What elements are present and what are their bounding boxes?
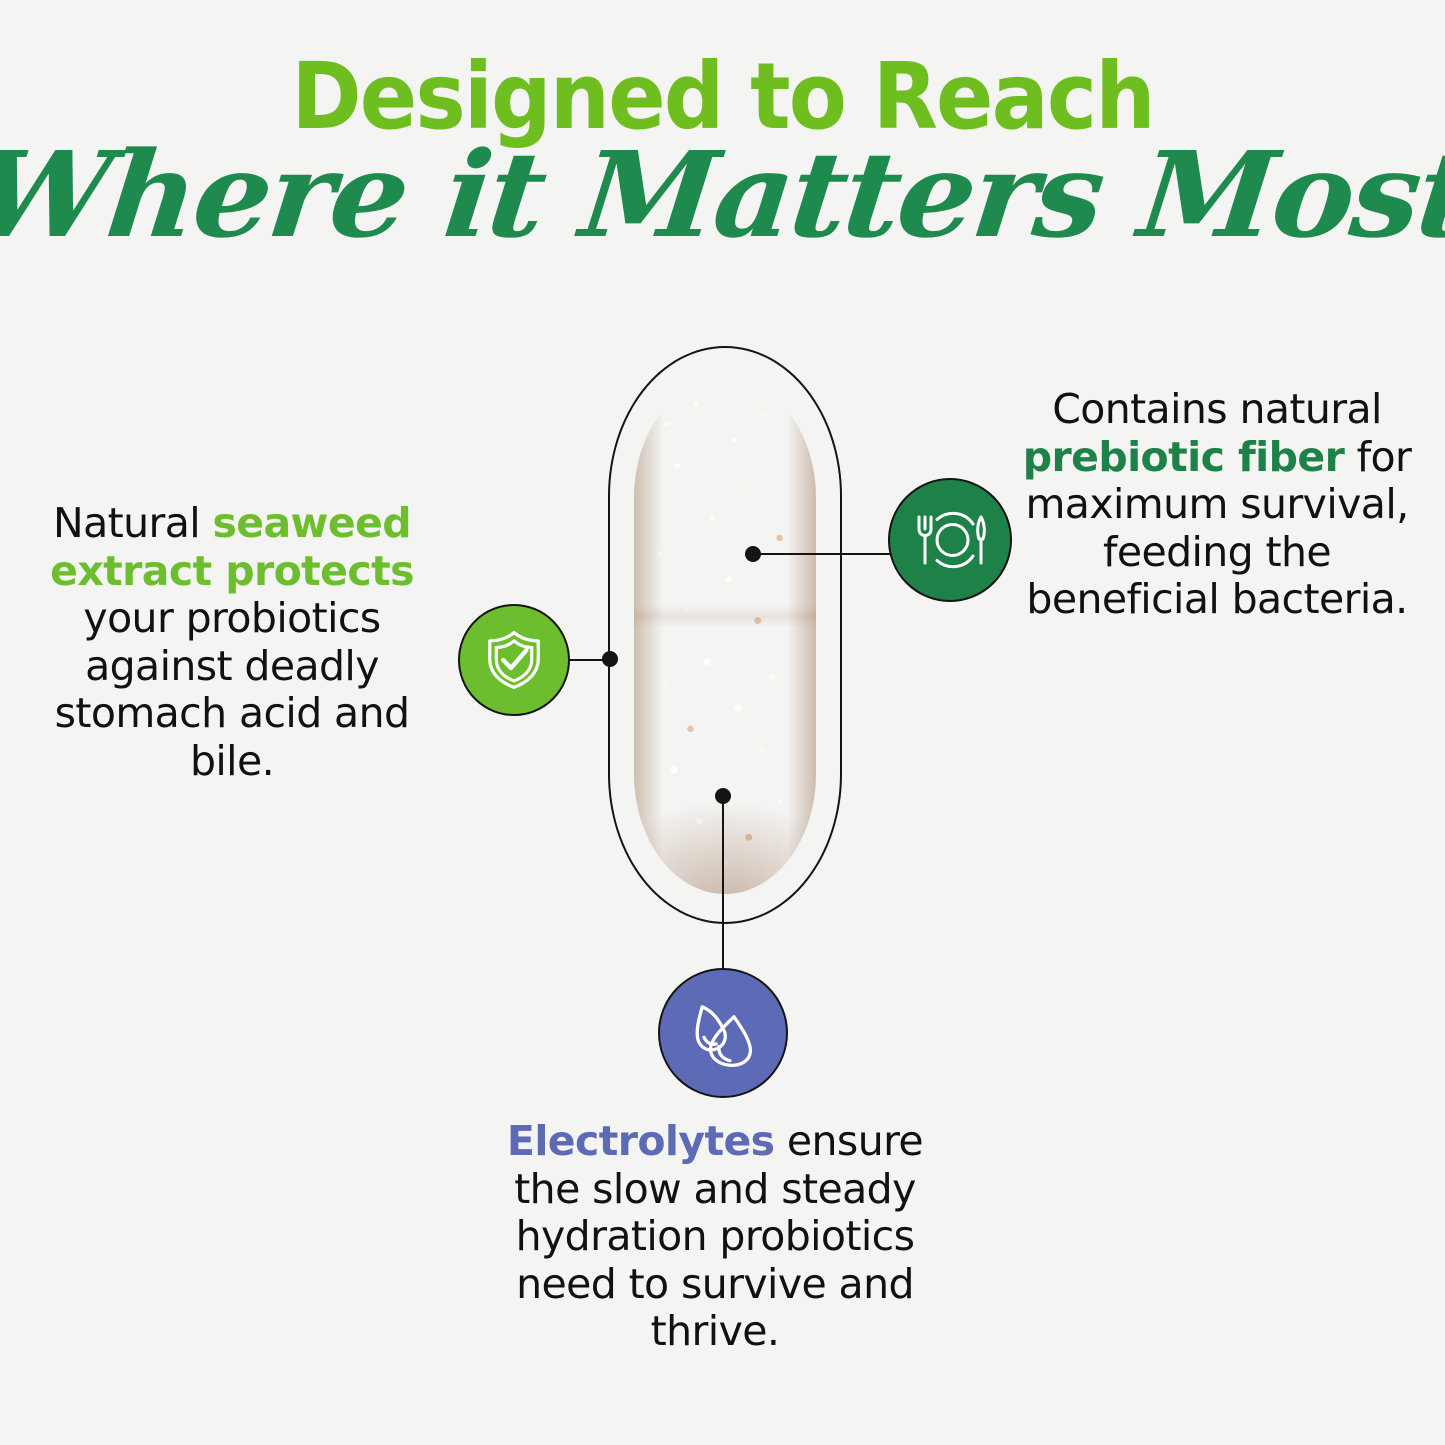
callout-seg-plain: Contains natural	[1052, 385, 1382, 433]
badge-electrolytes-droplets[interactable]	[658, 968, 788, 1098]
badge-seaweed-shield[interactable]	[458, 604, 570, 716]
connector-dot-prebiotic	[745, 546, 761, 562]
infographic-canvas: Designed to Reach Where it Matters Most	[0, 0, 1445, 1445]
callout-text-electrolytes: Electrolytes ensure the slow and steady …	[480, 1118, 950, 1356]
water-droplets-icon	[682, 992, 764, 1074]
connector-dot-electrolytes	[715, 788, 731, 804]
badge-prebiotic-plate[interactable]	[888, 478, 1012, 602]
callout-seg-highlight: Electrolytes	[507, 1117, 775, 1165]
shield-check-icon	[481, 627, 547, 693]
connector-line-electrolytes	[722, 795, 724, 975]
callout-seg-plain-2: your probiotics against deadly stomach a…	[55, 594, 410, 785]
headline-block: Designed to Reach Where it Matters Most	[0, 52, 1445, 254]
connector-dot-seaweed	[602, 651, 618, 667]
capsule-image	[634, 378, 816, 894]
callout-seg-plain: Natural	[53, 499, 212, 547]
callout-text-prebiotic: Contains natural prebiotic fiber for max…	[1012, 386, 1422, 624]
plate-fork-knife-icon	[910, 500, 990, 580]
capsule-group	[608, 346, 842, 924]
callout-seg-highlight: prebiotic fiber	[1023, 433, 1344, 481]
page-title-script: Where it Matters Most	[0, 136, 1445, 254]
connector-line-prebiotic	[753, 553, 893, 555]
callout-text-seaweed: Natural seaweed extract protects your pr…	[22, 500, 442, 785]
